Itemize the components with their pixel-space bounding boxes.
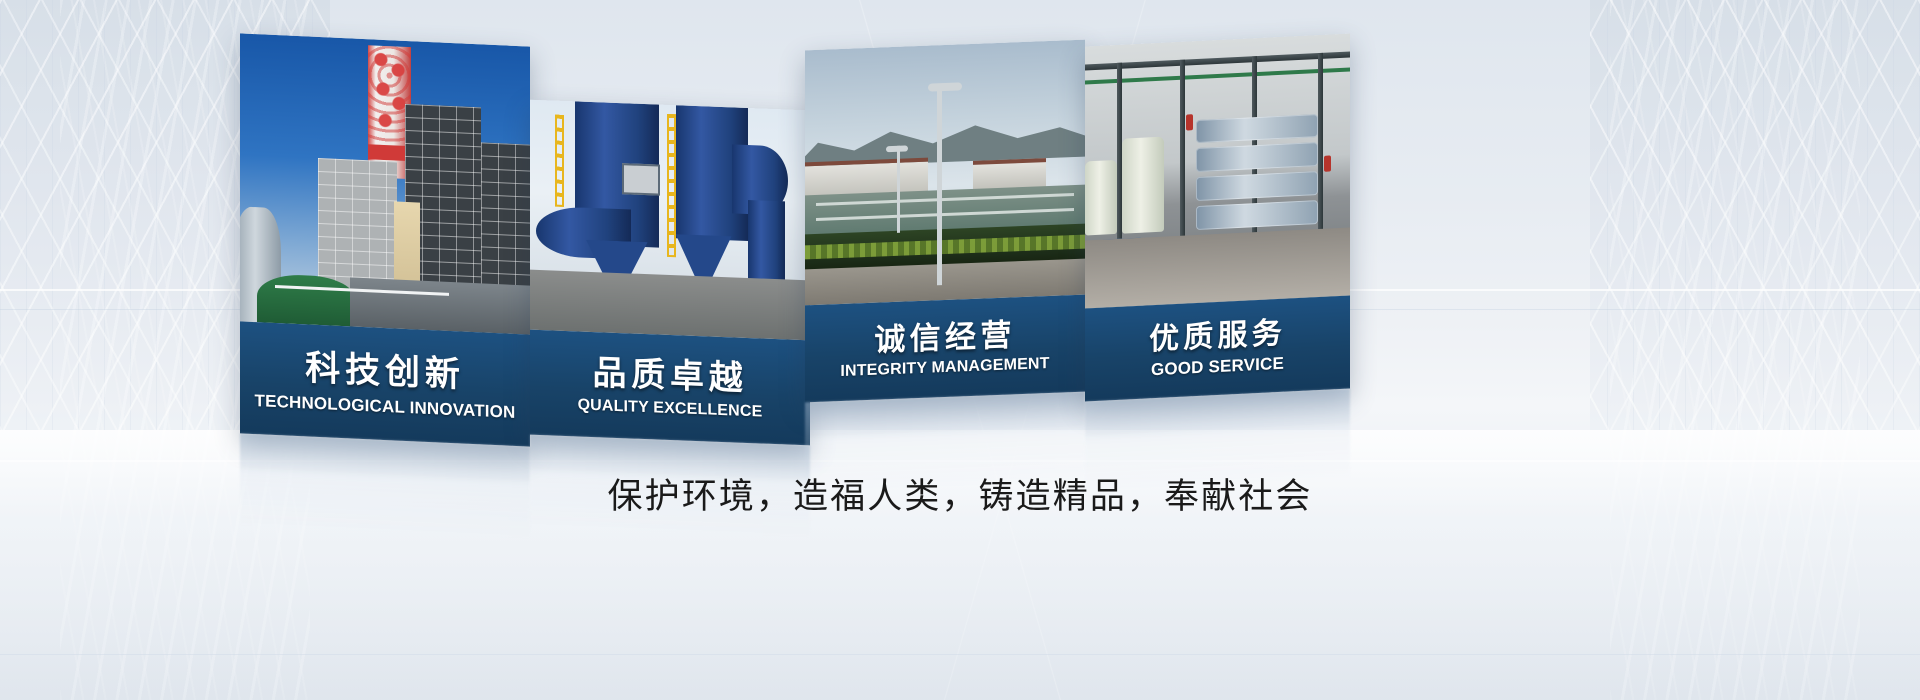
card-photo-good-service [1085,34,1350,309]
banner-tagline: 保护环境，造福人类，铸造精品，奉献社会 [0,468,1920,519]
red-valve [1186,115,1193,131]
yellow-ladder-2 [555,114,564,206]
vertical-pipe-2 [1180,60,1185,265]
hero-banner: 科技创新 TECHNOLOGICAL INNOVATION 品质卓越 QUALI… [0,0,1920,700]
card-cn-title: 品质卓越 [592,356,747,396]
equipment-base [350,277,530,334]
feature-card-integrity-management[interactable]: 诚信经营 INTEGRITY MANAGEMENT [805,40,1085,403]
feature-card-good-service[interactable]: 优质服务 GOOD SERVICE [1085,34,1350,402]
card-cn-title: 优质服务 [1149,319,1286,356]
card-photo-integrity-management [805,40,1085,306]
card-en-title: GOOD SERVICE [1151,355,1284,379]
control-box [622,163,660,196]
vertical-pipe-4 [1318,53,1323,258]
card-title-plate-good-service: 优质服务 GOOD SERVICE [1085,296,1350,402]
feature-card-technological-innovation[interactable]: 科技创新 TECHNOLOGICAL INNOVATION [240,33,530,446]
yellow-ladder [667,114,676,257]
card-cn-title: 诚信经营 [874,319,1015,355]
card-title-plate-quality-excellence: 品质卓越 QUALITY EXCELLENCE [530,330,810,446]
card-en-title: INTEGRITY MANAGEMENT [840,355,1049,379]
card-en-title: QUALITY EXCELLENCE [578,397,763,420]
chemical-dosing-tank-2 [1085,160,1117,235]
card-title-plate-technological-innovation: 科技创新 TECHNOLOGICAL INNOVATION [240,321,530,446]
concrete-wall [530,270,810,341]
street-lamp-pole-2 [897,146,900,233]
card-photo-technological-innovation [240,33,530,334]
room-floor [1085,227,1350,308]
street-lamp-pole [937,86,942,285]
street-lamp-head [928,83,962,92]
red-valve-2 [1324,155,1331,171]
feature-card-quality-excellence[interactable]: 品质卓越 QUALITY EXCELLENCE [530,100,810,446]
card-cn-title: 科技创新 [305,350,465,392]
chemical-dosing-tank [1122,137,1164,233]
vertical-pipe-1 [1117,63,1122,268]
card-en-title: TECHNOLOGICAL INNOVATION [255,392,516,421]
card-title-plate-integrity-management: 诚信经营 INTEGRITY MANAGEMENT [805,295,1085,403]
card-photo-quality-excellence [530,100,810,341]
